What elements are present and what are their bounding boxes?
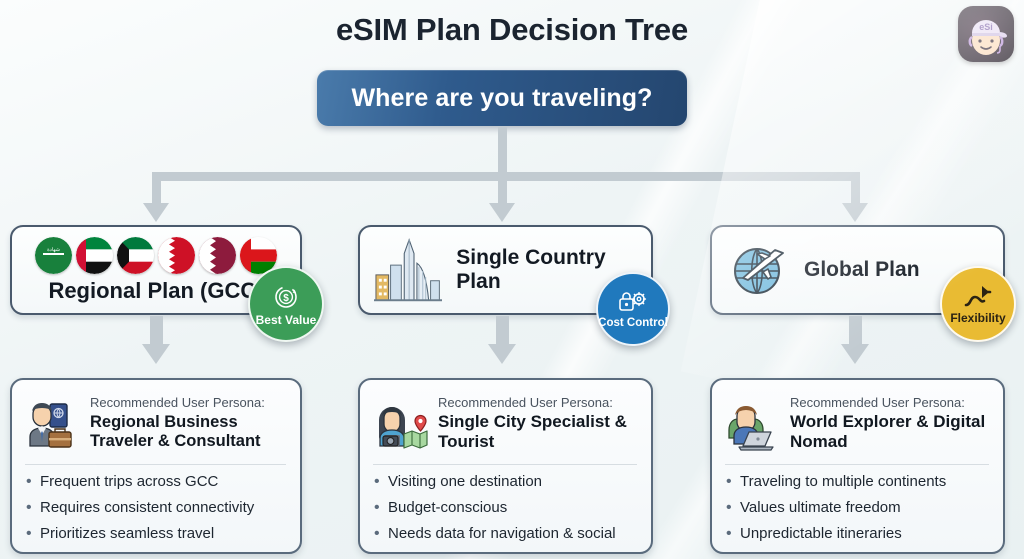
badge-flexibility[interactable]: Flexibility <box>940 266 1016 342</box>
list-item: Budget-conscious <box>371 499 639 518</box>
root-question-node[interactable]: Where are you traveling? <box>317 70 687 126</box>
persona-header: Recommended User Persona: Regional Busin… <box>23 389 288 457</box>
esim-mascot-logo-icon: eSi <box>958 6 1014 62</box>
connector-drop-right <box>851 181 860 205</box>
backpacker-laptop-icon <box>723 394 781 452</box>
persona-bullets: Frequent trips across GCC Requires consi… <box>23 473 288 543</box>
list-item: Values ultimate freedom <box>723 499 991 518</box>
connector-stem-persona-center <box>496 316 509 346</box>
page-title: eSIM Plan Decision Tree <box>0 12 1024 48</box>
persona-card-regional[interactable]: Recommended User Persona: Regional Busin… <box>10 378 302 554</box>
connector-stem-persona-left <box>150 316 163 346</box>
badge-cost-control-label: Cost Control <box>598 317 668 329</box>
connector-drop-center <box>498 181 507 205</box>
connector-root-stem <box>498 126 507 172</box>
persona-bullets: Traveling to multiple continents Values … <box>723 473 991 543</box>
svg-text:$: $ <box>283 293 289 304</box>
arrow-head-left <box>143 203 169 222</box>
arrow-head-center <box>489 203 515 222</box>
list-item: Visiting one destination <box>371 473 639 492</box>
badge-flexibility-label: Flexibility <box>950 312 1005 325</box>
flag-uae <box>76 237 113 274</box>
lock-gear-icon <box>618 289 648 315</box>
persona-name: Single City Specialist & Tourist <box>438 412 639 451</box>
flag-kuwait <box>117 237 154 274</box>
tourist-camera-map-icon <box>371 394 429 452</box>
persona-name: World Explorer & Digital Nomad <box>790 412 991 451</box>
persona-header: Recommended User Persona: World Explorer… <box>723 389 991 457</box>
divider <box>25 464 286 465</box>
arrow-head-right <box>842 203 868 222</box>
flag-saudi-arabia: شهادة <box>35 237 72 274</box>
connector-drop-left <box>152 181 161 205</box>
persona-kicker: Recommended User Persona: <box>790 395 991 411</box>
connector-stem-persona-right <box>849 316 862 346</box>
divider <box>725 464 989 465</box>
plan-title-global: Global Plan <box>804 258 920 282</box>
dollar-circle-arrow-icon: $ <box>271 282 301 312</box>
gcc-flags-icon: شهادة <box>35 237 277 274</box>
persona-card-global[interactable]: Recommended User Persona: World Explorer… <box>710 378 1005 554</box>
badge-best-value-label: Best Value <box>256 314 317 327</box>
root-question-label: Where are you traveling? <box>351 84 652 113</box>
list-item: Frequent trips across GCC <box>23 473 288 492</box>
persona-card-single-country[interactable]: Recommended User Persona: Single City Sp… <box>358 378 653 554</box>
businessman-passport-briefcase-icon <box>23 394 81 452</box>
list-item: Prioritizes seamless travel <box>23 525 288 544</box>
persona-kicker: Recommended User Persona: <box>90 395 288 411</box>
plan-title-regional: Regional Plan (GCC) <box>48 279 263 304</box>
persona-bullets: Visiting one destination Budget-consciou… <box>371 473 639 543</box>
persona-header: Recommended User Persona: Single City Sp… <box>371 389 639 457</box>
badge-best-value[interactable]: $ Best Value <box>248 266 324 342</box>
globe-airplane-icon <box>728 239 790 301</box>
svg-text:شهادة: شهادة <box>47 247 60 253</box>
arrow-head-persona-left <box>142 344 170 364</box>
connector-horizontal-bus <box>152 172 860 181</box>
flag-qatar <box>199 237 236 274</box>
infographic-canvas: eSIM Plan Decision Tree eSi Where are yo… <box>0 0 1024 559</box>
arrow-head-persona-center <box>488 344 516 364</box>
divider <box>373 464 637 465</box>
persona-kicker: Recommended User Persona: <box>438 395 639 411</box>
arrow-head-persona-right <box>841 344 869 364</box>
flag-bahrain <box>158 237 195 274</box>
list-item: Requires consistent connectivity <box>23 499 288 518</box>
list-item: Traveling to multiple continents <box>723 473 991 492</box>
list-item: Unpredictable itineraries <box>723 525 991 544</box>
list-item: Needs data for navigation & social <box>371 525 639 544</box>
curved-arrow-icon <box>962 283 994 311</box>
badge-cost-control[interactable]: Cost Control <box>596 272 670 346</box>
svg-text:eSi: eSi <box>979 22 993 32</box>
persona-name: Regional Business Traveler & Consultant <box>90 413 288 451</box>
city-skyline-icon <box>374 237 442 303</box>
